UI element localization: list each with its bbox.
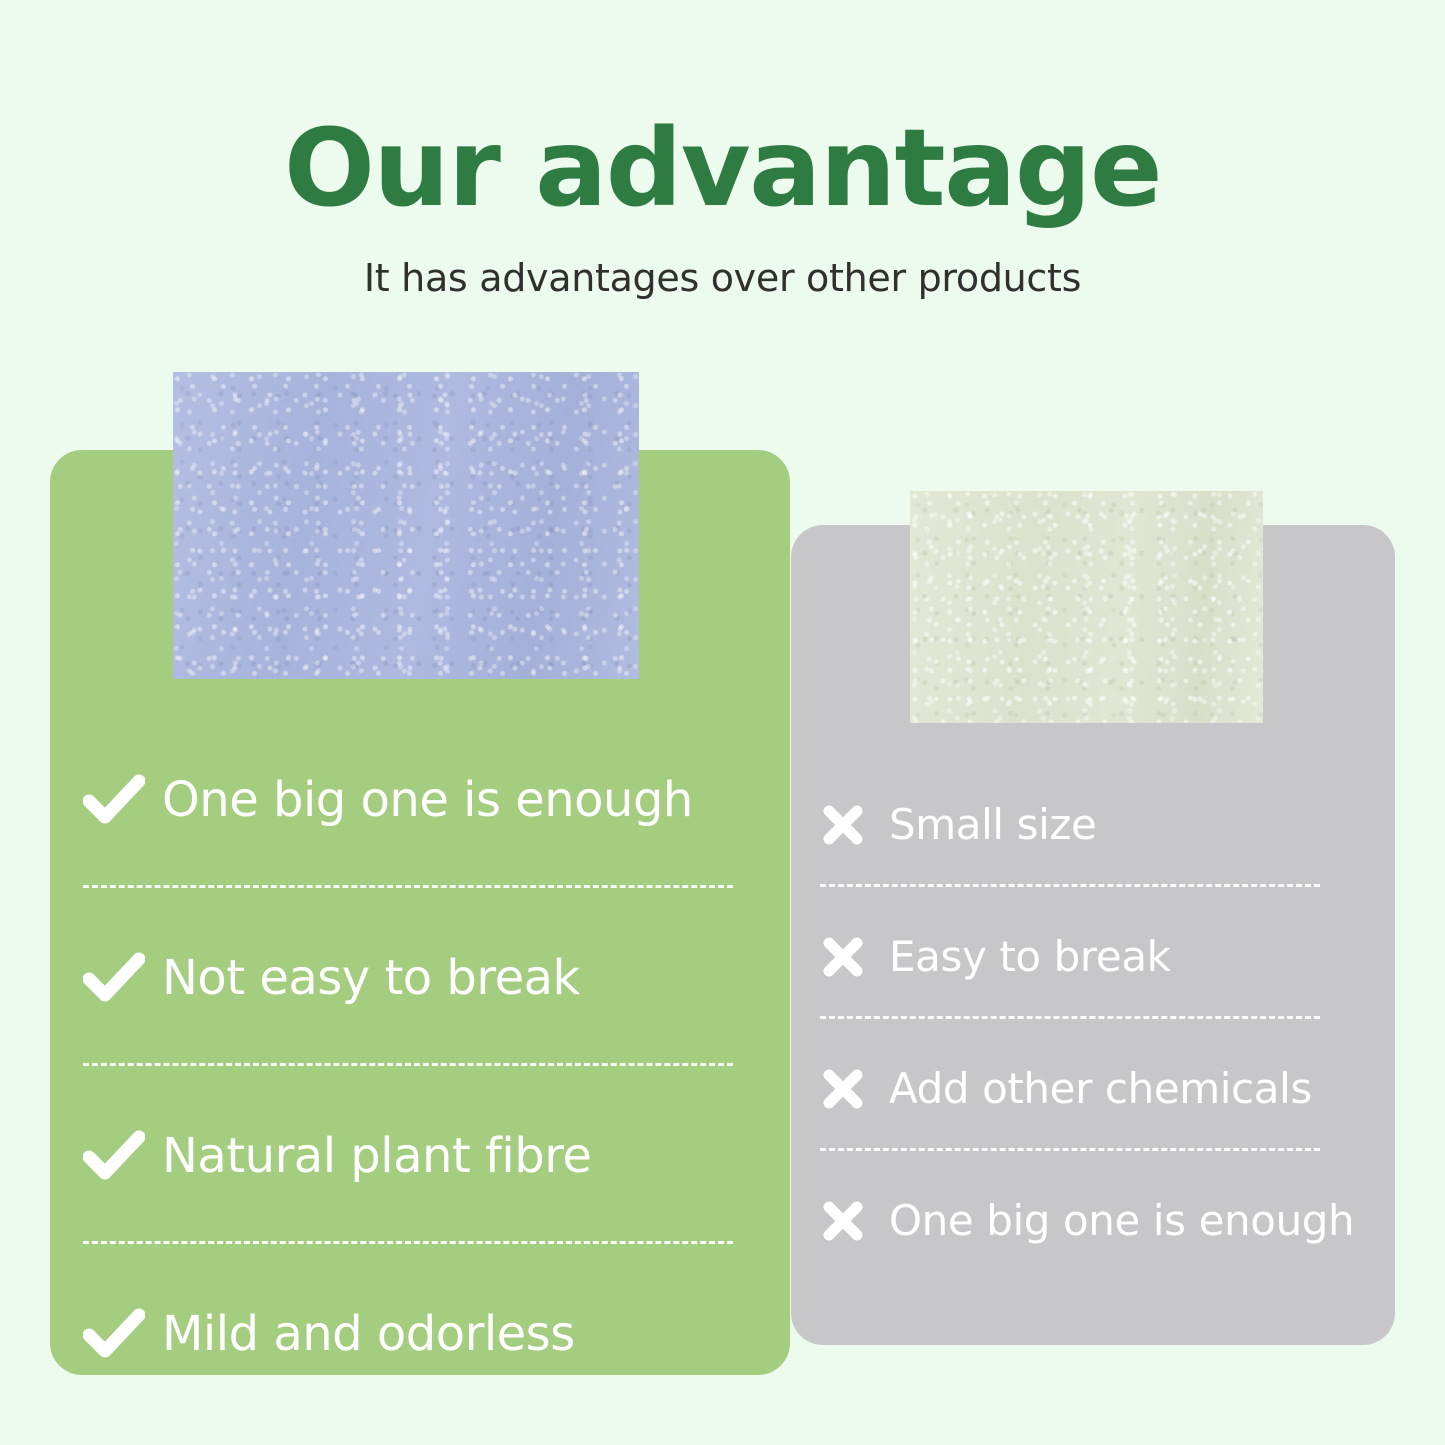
spacer [820, 1019, 1385, 1052]
list-item-label: Add other chemicals [889, 1067, 1312, 1111]
spacer [820, 1126, 1385, 1148]
spacer [820, 1151, 1385, 1184]
list-divider [83, 885, 733, 888]
list-item: Not easy to break [83, 933, 743, 1023]
spacer [83, 845, 743, 885]
blue-cloth-swatch-image [173, 372, 639, 679]
list-divider [83, 1063, 733, 1066]
spacer [83, 1066, 743, 1111]
page-subtitle: It has advantages over other products [0, 255, 1445, 303]
negative-feature-list: Small size Easy to break Add other chemi… [820, 788, 1385, 1258]
spacer [83, 1244, 743, 1289]
list-item: One big one is enough [83, 755, 743, 845]
cross-icon [820, 802, 866, 848]
positive-feature-list: One big one is enough Not easy to break … [83, 755, 743, 1379]
list-item-label: Small size [889, 803, 1096, 847]
list-item-label: Natural plant fibre [162, 1131, 591, 1181]
page-title: Our advantage [0, 116, 1445, 223]
cross-icon [820, 1198, 866, 1244]
check-icon [83, 1308, 145, 1360]
spacer [83, 888, 743, 933]
cross-icon [820, 1066, 866, 1112]
spacer [820, 887, 1385, 920]
check-icon [83, 1130, 145, 1182]
green-cloth-swatch-image [910, 491, 1263, 723]
list-item: Mild and odorless [83, 1289, 743, 1379]
list-divider [83, 1241, 733, 1244]
list-item-label: Not easy to break [162, 953, 580, 1003]
list-item: Small size [820, 788, 1385, 862]
list-item-label: One big one is enough [889, 1199, 1354, 1243]
list-item-label: One big one is enough [162, 775, 693, 825]
list-item: Add other chemicals [820, 1052, 1385, 1126]
list-divider [820, 1148, 1320, 1151]
list-divider [820, 1016, 1320, 1019]
list-item-label: Mild and odorless [162, 1309, 575, 1359]
spacer [83, 1023, 743, 1063]
list-item: Natural plant fibre [83, 1111, 743, 1201]
cross-icon [820, 934, 866, 980]
list-divider [820, 884, 1320, 887]
check-icon [83, 952, 145, 1004]
list-item: Easy to break [820, 920, 1385, 994]
spacer [820, 862, 1385, 884]
list-item-label: Easy to break [889, 935, 1171, 979]
check-icon [83, 774, 145, 826]
spacer [83, 1201, 743, 1241]
list-item: One big one is enough [820, 1184, 1385, 1258]
advantage-comparison-graphic: Our advantage It has advantages over oth… [0, 0, 1445, 1445]
spacer [820, 994, 1385, 1016]
